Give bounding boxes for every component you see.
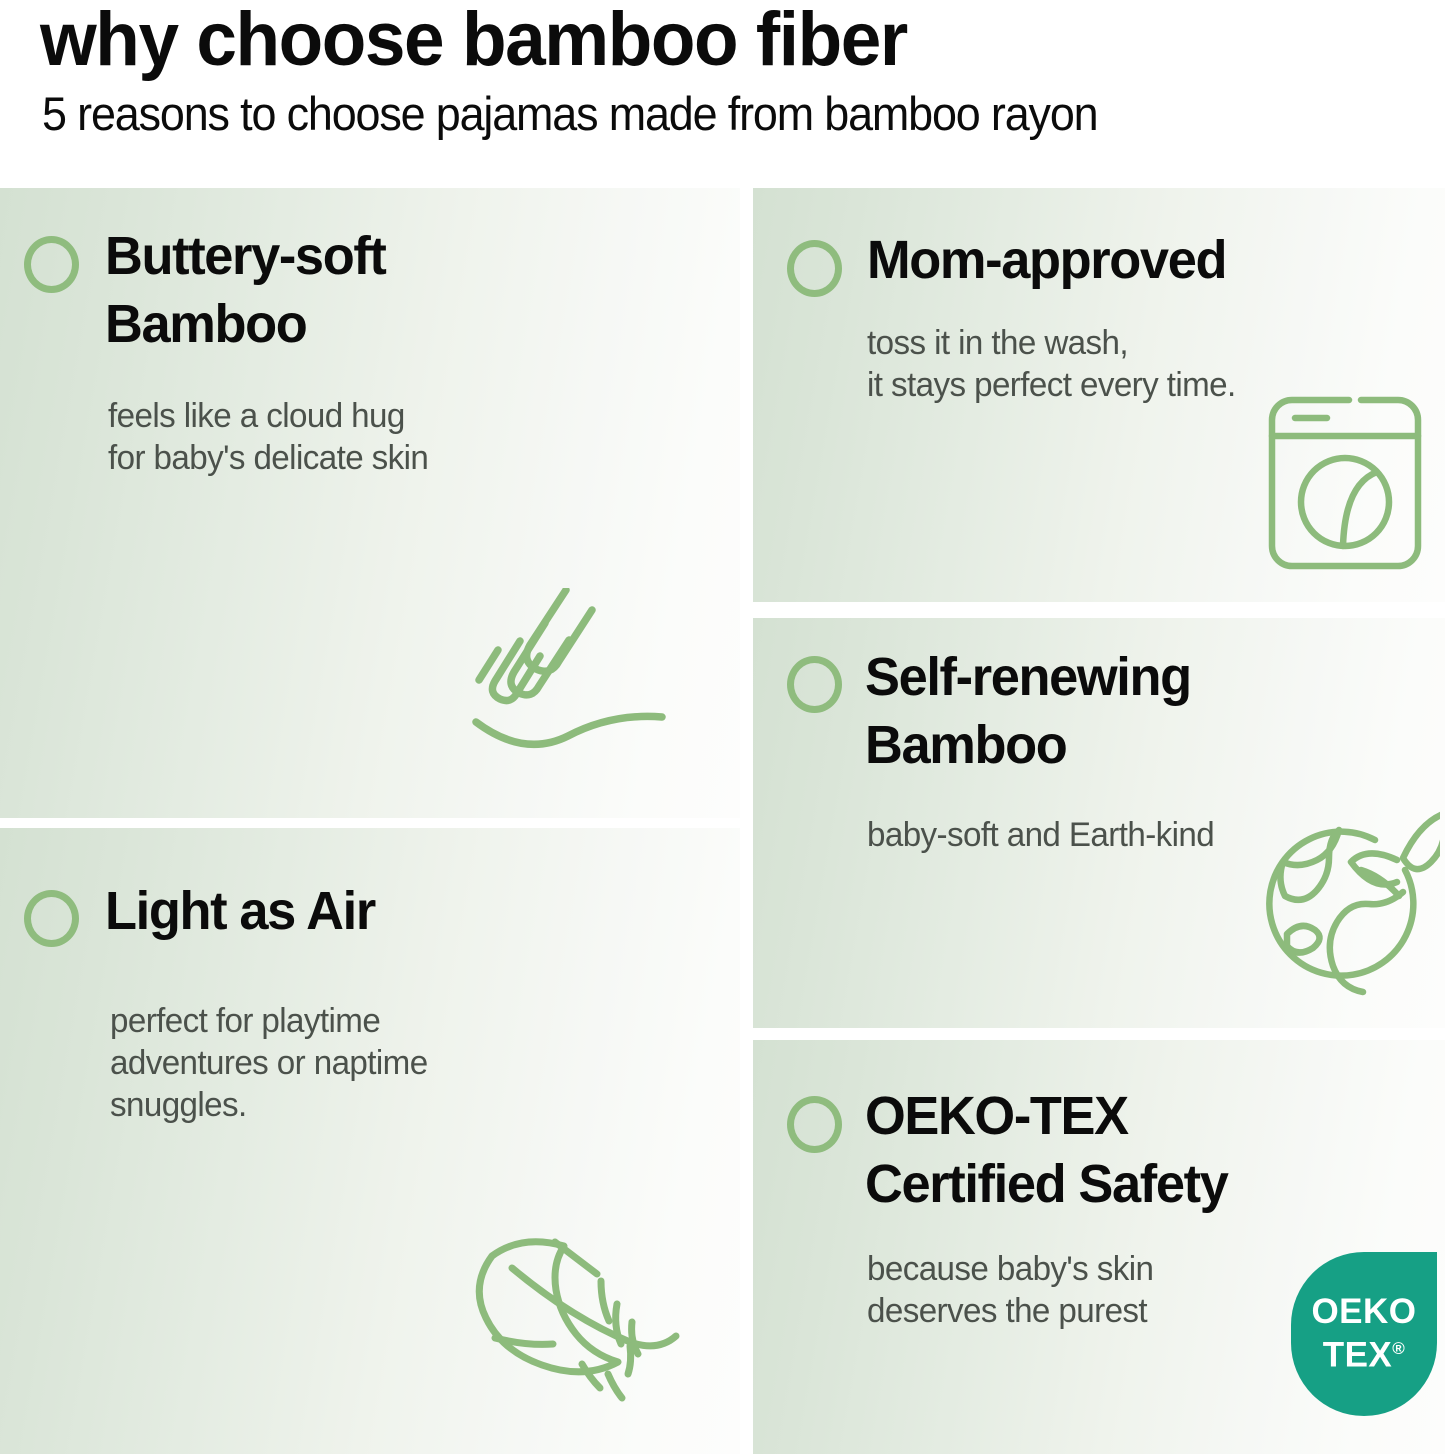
feature-card-body: feels like a cloud hug for baby's delica… xyxy=(108,395,428,479)
oeko-tex-badge-line1: OEKO xyxy=(1311,1293,1416,1330)
bullet-ring-icon xyxy=(787,1096,842,1153)
bullet-ring-icon xyxy=(24,890,79,947)
oeko-tex-badge-line2: TEX® xyxy=(1323,1330,1406,1375)
page-title: why choose bamboo fiber xyxy=(40,0,907,82)
feature-card-title: Mom-approved xyxy=(867,226,1226,294)
header: why choose bamboo fiber 5 reasons to cho… xyxy=(0,0,1445,188)
infographic-page: why choose bamboo fiber 5 reasons to cho… xyxy=(0,0,1445,1454)
feature-card-buttery-soft-bamboo: Buttery-soft Bamboo feels like a cloud h… xyxy=(0,188,740,818)
feature-card-title: OEKO-TEX Certified Safety xyxy=(865,1082,1228,1218)
oeko-tex-badge: OEKO TEX® xyxy=(1291,1252,1437,1416)
feature-card-title: Light as Air xyxy=(105,877,375,945)
feature-card-title: Self-renewing Bamboo xyxy=(865,643,1191,779)
bullet-ring-icon xyxy=(787,240,842,297)
earth-with-leaves-icon xyxy=(1265,808,1440,1003)
oeko-tex-badge-line2-text: TEX xyxy=(1323,1336,1393,1375)
bullet-ring-icon xyxy=(787,656,842,713)
feature-card-title: Buttery-soft Bamboo xyxy=(105,222,386,358)
bullet-ring-icon xyxy=(24,236,79,293)
feather-icon xyxy=(462,1206,712,1441)
feature-card-light-as-air: Light as Air perfect for playtime advent… xyxy=(0,828,740,1454)
page-subtitle: 5 reasons to choose pajamas made from ba… xyxy=(42,86,1097,142)
feature-card-mom-approved: Mom-approved toss it in the wash, it sta… xyxy=(753,188,1445,602)
feature-card-body: toss it in the wash, it stays perfect ev… xyxy=(867,322,1236,406)
hand-touching-fabric-icon xyxy=(470,588,705,768)
feature-card-self-renewing-bamboo: Self-renewing Bamboo baby-soft and Earth… xyxy=(753,618,1445,1028)
feature-card-body: perfect for playtime adventures or napti… xyxy=(110,1000,428,1126)
feature-card-oeko-tex-certified-safety: OEKO-TEX Certified Safety because baby's… xyxy=(753,1040,1445,1454)
feature-card-body: baby-soft and Earth-kind xyxy=(867,814,1214,856)
washing-machine-icon xyxy=(1265,394,1425,572)
registered-trademark-icon: ® xyxy=(1392,1339,1405,1358)
feature-card-body: because baby's skin deserves the purest xyxy=(867,1248,1153,1332)
